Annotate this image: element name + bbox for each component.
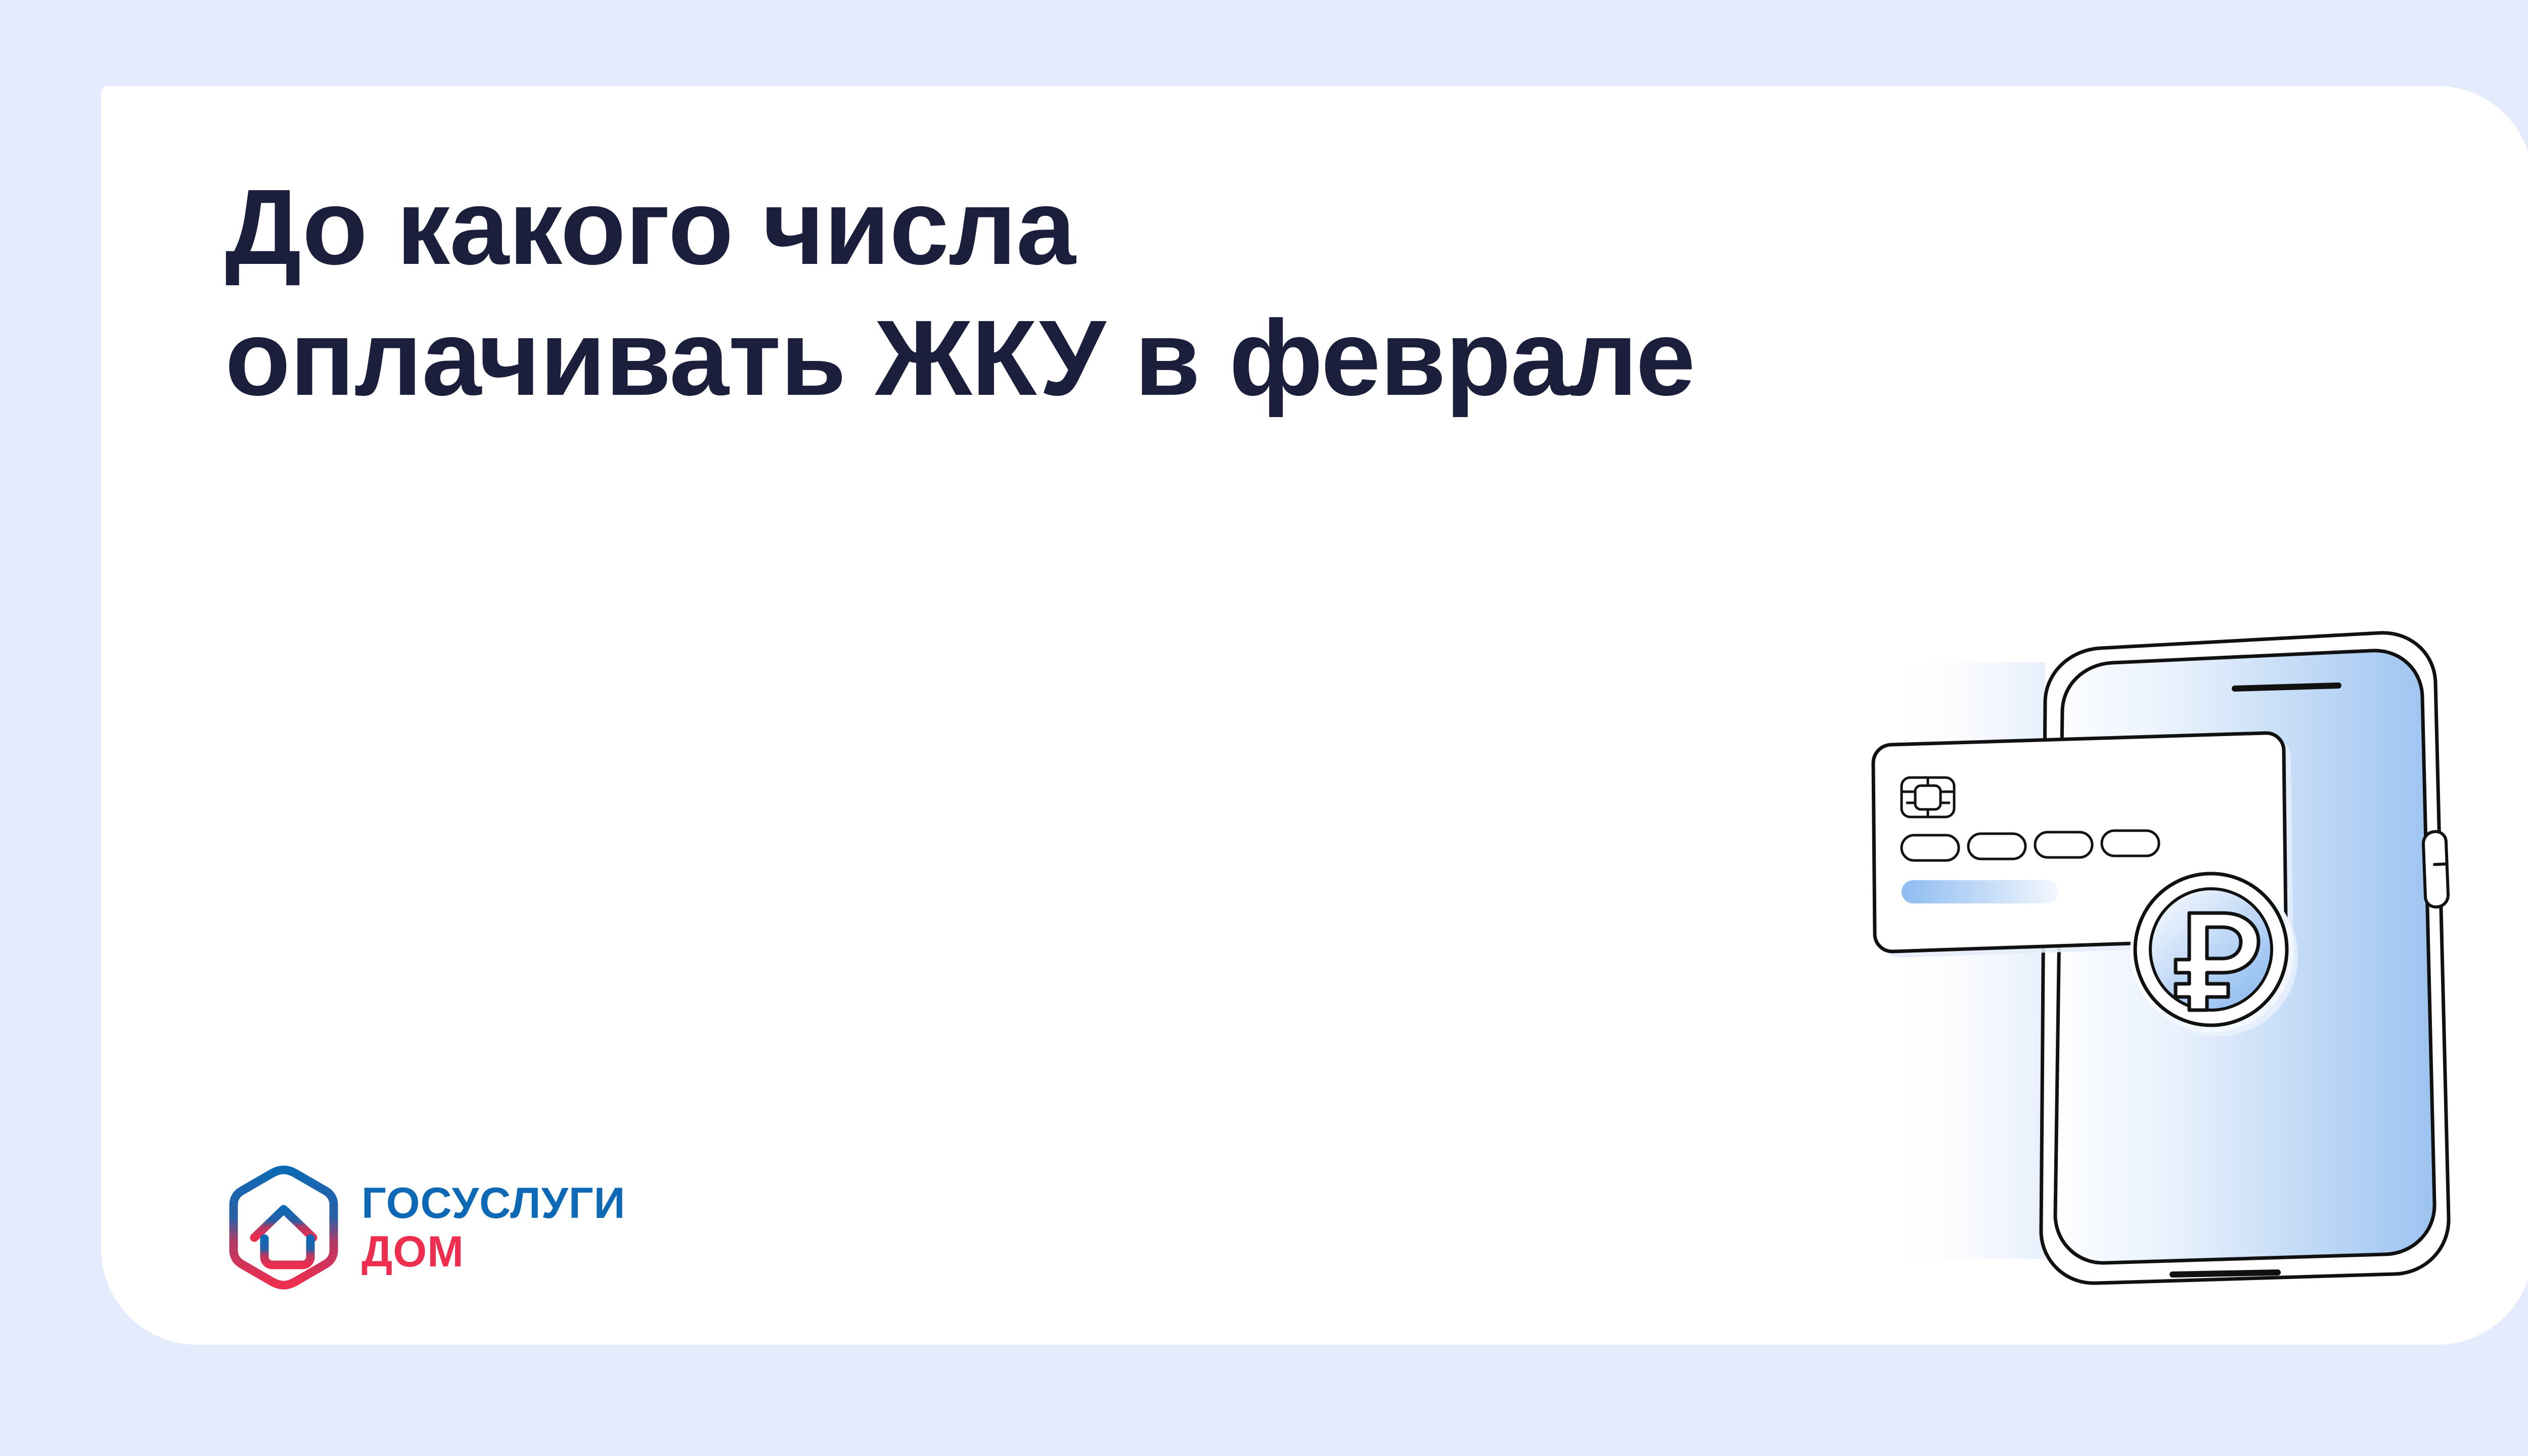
gosuslugi-dom-house-hexagon-logo-icon: [225, 1163, 342, 1292]
brand-wordmark-line1: ГОСУСЛУГИ: [362, 1182, 625, 1224]
phone-card-coin-illustration: [1858, 576, 2465, 1325]
brand-logo[interactable]: ГОСУСЛУГИ ДОМ: [225, 1163, 625, 1292]
side-button-icon: [2423, 832, 2448, 907]
page-title: До какого числа оплачивать ЖКУ в феврале: [225, 162, 1995, 423]
speaker-slot-icon: [2235, 686, 2338, 689]
card-stripe: [1902, 880, 2058, 903]
brand-wordmark-line2: ДОМ: [362, 1231, 625, 1273]
white-content-card: До какого числа оплачивать ЖКУ в феврале: [101, 86, 2528, 1345]
brand-wordmark: ГОСУСЛУГИ ДОМ: [362, 1182, 625, 1273]
home-indicator-icon: [2173, 1272, 2278, 1275]
promo-banner: До какого числа оплачивать ЖКУ в феврале: [0, 0, 2528, 1456]
